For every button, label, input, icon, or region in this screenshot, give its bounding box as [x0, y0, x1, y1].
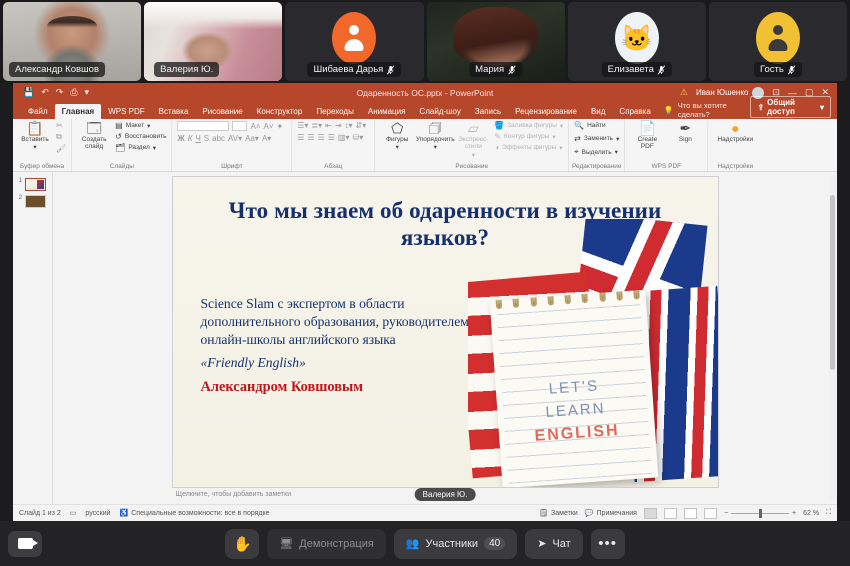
- shape-effects-icon: ◑: [494, 143, 499, 152]
- chat-button[interactable]: ➤ Чат: [525, 529, 582, 559]
- shape-fill-icon: 🪣: [494, 121, 504, 130]
- screen-share-icon: 🖥: [279, 537, 293, 550]
- decrease-indent-icon[interactable]: ⇤: [325, 121, 332, 130]
- raised-hand-icon: ✋: [233, 535, 252, 553]
- new-slide-button[interactable]: 🗔 Создать слайд: [77, 121, 111, 151]
- zoom-in-button[interactable]: +: [792, 510, 796, 517]
- layout-label: Макет: [126, 122, 144, 129]
- tab-wps-pdf[interactable]: WPS PDF: [101, 104, 151, 119]
- share-button[interactable]: ⇪ Общий доступ ▾: [750, 96, 831, 118]
- notes-indicator-icon[interactable]: ▭: [70, 509, 77, 517]
- zoom-thumb[interactable]: [759, 509, 762, 518]
- slide-photo-uk-flags: LET'S LEARN ENGLISH: [468, 219, 718, 487]
- shape-effects-button[interactable]: ◑ Эффекты фигуры▾: [494, 143, 563, 152]
- addins-icon: ●: [731, 121, 739, 135]
- zoom-level-label[interactable]: 62 %: [803, 510, 819, 517]
- accessibility-label: Специальные возможности: все в порядке: [131, 510, 269, 517]
- accessibility-icon: ♿: [120, 509, 129, 517]
- slide-thumbnail-item[interactable]: 2: [13, 193, 52, 210]
- group-label-addins: Надстройки: [708, 163, 762, 170]
- notes-button[interactable]: 🗒 Заметки: [539, 509, 578, 517]
- participants-button[interactable]: 👥 Участники 40: [394, 529, 517, 559]
- quick-styles-icon: ▱: [468, 121, 479, 135]
- microphone-muted-icon: [787, 65, 796, 75]
- replace-button[interactable]: ⇄ Заменить▾: [574, 134, 619, 143]
- arrange-label: Упорядочить: [416, 136, 455, 143]
- participant-tile-5[interactable]: 🐱 Елизавета: [568, 2, 706, 81]
- slide-body-text[interactable]: Science Slam с экспертом в области допол…: [201, 295, 471, 397]
- select-icon: ⌖: [574, 147, 579, 157]
- slide-number: 2: [16, 195, 22, 201]
- avatar: [332, 12, 376, 64]
- clipboard-icon: 📋: [26, 121, 43, 135]
- cat-icon: 🐱: [621, 25, 653, 51]
- more-options-button[interactable]: •••: [591, 529, 625, 559]
- notes-label: Заметки: [551, 510, 578, 517]
- font-color-icon[interactable]: A▾: [262, 134, 271, 143]
- reset-label: Восстановить: [125, 133, 167, 140]
- section-button[interactable]: 🗂 Раздел▾: [115, 143, 166, 152]
- sign-icon: ✒: [679, 121, 691, 135]
- people-icon: 👥: [406, 537, 420, 550]
- editor-body: 1 2: [13, 172, 837, 504]
- share-screen-button[interactable]: 🖥 Демонстрация: [267, 529, 385, 559]
- ribbon-group-wps-pdf: 📄 Create PDF ✒ Sign WPS PDF: [624, 119, 707, 171]
- font-size-input[interactable]: [232, 121, 247, 131]
- paper-plane-icon: ➤: [537, 537, 546, 550]
- increase-font-size-icon[interactable]: A˄: [250, 122, 260, 131]
- participant-name-badge: Шибаева Дарья: [308, 62, 402, 77]
- align-left-icon[interactable]: ☰: [297, 133, 304, 142]
- select-button[interactable]: ⌖ Выделить▾: [574, 147, 619, 157]
- create-pdf-icon: 📄: [639, 121, 656, 135]
- chevron-down-icon: ▾: [33, 144, 36, 151]
- create-pdf-label: Create PDF: [630, 136, 664, 151]
- create-pdf-button[interactable]: 📄 Create PDF: [630, 121, 664, 151]
- replace-icon: ⇄: [574, 134, 581, 143]
- align-center-icon[interactable]: ☰: [307, 133, 314, 142]
- document-title: Одаренность ОС.pptx - PowerPoint: [357, 88, 494, 98]
- tell-me-search[interactable]: 💡 Что вы хотите сделать?: [664, 101, 751, 119]
- view-sorter-button[interactable]: [664, 508, 677, 519]
- increase-indent-icon[interactable]: ⇥: [335, 121, 342, 130]
- shape-outline-label: Контур фигуры: [504, 133, 549, 140]
- shapes-label: Фигуры: [386, 136, 408, 143]
- notepad-image: LET'S LEARN ENGLISH: [489, 290, 658, 487]
- active-speaker-pill: Валерия Ю.: [415, 488, 476, 501]
- bold-icon[interactable]: Ж: [177, 134, 184, 143]
- quick-styles-label: Экспресс-стили: [456, 136, 490, 151]
- numbering-icon[interactable]: ≣▾: [311, 121, 322, 130]
- ribbon-group-slides: 🗔 Создать слайд ▤ Макет▾ ↺ Восстановить …: [71, 119, 171, 171]
- participant-tile-1[interactable]: Александр Ковшов: [3, 2, 141, 81]
- account-name: Иван Юшенко: [696, 88, 748, 97]
- slide-body-line-2: «Friendly English»: [201, 354, 471, 372]
- slide-counter[interactable]: Слайд 1 из 2: [19, 510, 61, 517]
- shapes-button[interactable]: ⬠ Фигуры▾: [380, 121, 414, 152]
- person-icon: [768, 25, 788, 51]
- shape-effects-label: Эффекты фигуры: [502, 144, 556, 151]
- change-case-icon[interactable]: Aa▾: [245, 134, 259, 143]
- tab-review[interactable]: Рецензирование: [508, 104, 584, 119]
- italic-icon[interactable]: К: [188, 134, 193, 143]
- tell-me-placeholder: Что вы хотите сделать?: [678, 101, 751, 119]
- strikethrough-icon[interactable]: abc: [212, 134, 225, 143]
- tab-help[interactable]: Справка: [612, 104, 657, 119]
- shadow-icon[interactable]: S: [204, 134, 209, 143]
- video-camera-icon: [18, 538, 33, 549]
- new-slide-label: Создать слайд: [77, 136, 111, 151]
- tab-file[interactable]: Файл: [21, 104, 55, 119]
- view-slideshow-button[interactable]: [704, 508, 717, 519]
- shape-outline-icon: ✎: [494, 132, 501, 141]
- format-painter-icon[interactable]: 🖌: [56, 144, 66, 153]
- tab-draw[interactable]: Рисование: [195, 104, 249, 119]
- sign-label: Sign: [679, 136, 692, 143]
- slide-thumbnail-2[interactable]: [25, 195, 46, 208]
- clear-formatting-icon[interactable]: ✦: [277, 122, 284, 131]
- justify-icon[interactable]: ☰: [328, 133, 335, 142]
- raise-hand-button[interactable]: ✋: [225, 529, 259, 559]
- microphone-muted-icon: [386, 65, 395, 75]
- participant-name: Валерия Ю.: [160, 64, 213, 75]
- character-spacing-icon[interactable]: AV▾: [228, 134, 242, 143]
- arrange-button[interactable]: 🗇 Упорядочить▾: [418, 121, 452, 152]
- group-label-drawing: Рисование: [375, 163, 568, 170]
- tab-view[interactable]: Вид: [584, 104, 612, 119]
- ribbon-group-addins: ● Надстройки Надстройки: [707, 119, 762, 171]
- share-icon: ⇪: [757, 103, 764, 112]
- zoom-out-button[interactable]: −: [724, 510, 728, 517]
- find-label: Найти: [587, 122, 606, 129]
- bullets-icon[interactable]: ☰▾: [297, 121, 308, 130]
- quick-access-toolbar[interactable]: 💾 ↶ ↷ ⎙ ▾: [13, 87, 89, 98]
- paste-label: Вставить: [21, 136, 49, 143]
- sign-button[interactable]: ✒ Sign: [668, 121, 702, 143]
- view-normal-button[interactable]: [644, 508, 657, 519]
- meeting-toolbar: ✋ 🖥 Демонстрация 👥 Участники 40 ➤ Чат ••…: [0, 521, 850, 566]
- slide-thumbnail-1[interactable]: [25, 178, 46, 191]
- line-spacing-icon[interactable]: ↕▾: [345, 121, 353, 130]
- video-toggle-button[interactable]: [8, 531, 42, 557]
- warning-triangle-icon[interactable]: ⚠: [680, 87, 688, 98]
- slideshow-icon[interactable]: ⎙: [70, 87, 77, 98]
- group-label-slides: Слайды: [72, 163, 171, 170]
- comments-label: Примечания: [597, 510, 637, 517]
- tab-animations[interactable]: Анимация: [361, 104, 413, 119]
- ribbon-group-drawing: ⬠ Фигуры▾ 🗇 Упорядочить▾ ▱ Экспресс-стил…: [374, 119, 568, 171]
- select-label: Выделить: [582, 149, 612, 156]
- group-label-font: Шрифт: [172, 163, 291, 170]
- scrollbar-thumb[interactable]: [830, 195, 835, 370]
- ribbon-group-font: A˄ A˅ ✦ Ж К Ч S abc AV▾ Aa▾ A▾ Шрифт: [171, 119, 291, 171]
- shape-outline-button[interactable]: ✎ Контур фигуры▾: [494, 132, 563, 141]
- paste-button[interactable]: 📋 Вставить ▾: [18, 121, 52, 152]
- slide-thumbnail-pane[interactable]: 1 2: [13, 172, 53, 504]
- chevron-down-icon: ▾: [820, 103, 824, 112]
- save-icon[interactable]: 💾: [23, 87, 34, 98]
- arrange-icon: 🗇: [429, 121, 442, 135]
- group-label-clipboard: Буфер обмена: [13, 163, 71, 170]
- participant-name: Гость: [760, 64, 784, 75]
- slide-body-line-3: Александром Ковшовым: [201, 378, 471, 397]
- participants-label: Участники: [426, 538, 479, 550]
- fit-slide-icon[interactable]: ⛶: [826, 509, 831, 517]
- shape-fill-label: Заливка фигуры: [507, 122, 557, 129]
- convert-smartart-icon[interactable]: ⛁▾: [352, 133, 363, 142]
- avatar: 🐱: [615, 12, 659, 64]
- tab-record[interactable]: Запись: [468, 104, 508, 119]
- shared-screen-powerpoint: 💾 ↶ ↷ ⎙ ▾ Одаренность ОС.pptx - PowerPoi…: [13, 83, 837, 521]
- shape-fill-button[interactable]: 🪣 Заливка фигуры▾: [494, 121, 563, 130]
- slide-canvas-area: LET'S LEARN ENGLISH Что мы знаем об одар…: [53, 172, 837, 504]
- copy-icon[interactable]: ⧉: [56, 132, 66, 142]
- replace-label: Заменить: [584, 135, 613, 142]
- tab-transitions[interactable]: Переходы: [309, 104, 361, 119]
- slide-canvas[interactable]: LET'S LEARN ENGLISH Что мы знаем об одар…: [173, 177, 718, 487]
- microphone-muted-icon: [657, 65, 666, 75]
- notepad-handwriting: LET'S LEARN ENGLISH: [495, 372, 655, 452]
- group-label-editing: Редактирование: [569, 163, 624, 170]
- participant-filmstrip: Александр Ковшов Валерия Ю. Шибаева Дарь…: [0, 0, 850, 83]
- participant-name-badge: Валерия Ю.: [154, 62, 219, 77]
- new-slide-icon: 🗔: [87, 121, 102, 135]
- tab-design[interactable]: Конструктор: [250, 104, 310, 119]
- camera-button[interactable]: [8, 531, 42, 557]
- chat-label: Чат: [552, 538, 570, 550]
- columns-icon[interactable]: ▥▾: [338, 133, 350, 142]
- participant-tile-4[interactable]: Мария: [427, 2, 565, 81]
- align-right-icon[interactable]: ☰: [318, 133, 325, 142]
- participant-name-badge: Мария: [469, 62, 522, 77]
- section-icon: 🗂: [115, 143, 125, 152]
- ribbon-tab-bar: Файл Главная WPS PDF Вставка Рисование К…: [13, 102, 837, 119]
- tab-slideshow[interactable]: Слайд-шоу: [412, 104, 467, 119]
- avatar: [756, 12, 800, 64]
- view-reading-button[interactable]: [684, 508, 697, 519]
- participant-name: Мария: [475, 64, 504, 75]
- participant-name-badge: Елизавета: [602, 62, 672, 77]
- ribbon-group-clipboard: 📋 Вставить ▾ ✂ ⧉ 🖌 Буфер обмена: [13, 119, 71, 171]
- quick-styles-button[interactable]: ▱ Экспресс-стили▾: [456, 121, 490, 159]
- section-label: Раздел: [128, 144, 149, 151]
- font-family-input[interactable]: [177, 121, 229, 131]
- participant-name: Шибаева Дарья: [314, 64, 384, 75]
- reset-icon: ↺: [115, 132, 122, 141]
- shapes-icon: ⬠: [391, 121, 403, 135]
- share-screen-label: Демонстрация: [299, 538, 374, 550]
- comments-button[interactable]: 💬 Примечания: [585, 509, 637, 517]
- participants-count: 40: [484, 537, 505, 550]
- ribbon-group-paragraph: ☰▾ ≣▾ ⇤ ⇥ ↕▾ ⇵▾ ☰ ☰ ☰ ☰ ▥▾ ⛁▾ Абзац: [291, 119, 374, 171]
- notes-icon: 🗒: [539, 509, 548, 517]
- microphone-muted-icon: [507, 65, 516, 75]
- accessibility-status[interactable]: ♿ Специальные возможности: все в порядке: [120, 509, 270, 517]
- participant-tile-2[interactable]: Валерия Ю.: [144, 2, 282, 81]
- participant-tile-3[interactable]: Шибаева Дарья: [285, 2, 423, 81]
- slide-title-text[interactable]: Что мы знаем об одаренности в изучении я…: [195, 197, 696, 251]
- redo-icon[interactable]: ↷: [56, 87, 64, 98]
- decrease-font-size-icon[interactable]: A˅: [264, 122, 274, 131]
- layout-button[interactable]: ▤ Макет▾: [115, 121, 166, 130]
- slide-thumbnail-item[interactable]: 1: [13, 176, 52, 193]
- vertical-scrollbar[interactable]: [829, 176, 836, 500]
- lightbulb-icon: 💡: [664, 106, 674, 115]
- group-label-paragraph: Абзац: [292, 163, 374, 170]
- tab-insert[interactable]: Вставка: [152, 104, 196, 119]
- text-direction-icon[interactable]: ⇵▾: [356, 121, 367, 130]
- zoom-slider[interactable]: − +: [724, 510, 796, 517]
- group-label-wps-pdf: WPS PDF: [625, 163, 707, 170]
- layout-icon: ▤: [115, 121, 123, 130]
- undo-icon[interactable]: ↶: [41, 87, 49, 98]
- slide-body-line-1: Science Slam с экспертом в области допол…: [201, 295, 471, 349]
- participant-name: Елизавета: [608, 64, 654, 75]
- reset-button[interactable]: ↺ Восстановить: [115, 132, 166, 141]
- ribbon: 📋 Вставить ▾ ✂ ⧉ 🖌 Буфер обмена 🗔 Создат…: [13, 119, 837, 172]
- addins-button[interactable]: ● Надстройки: [713, 121, 757, 143]
- ellipsis-icon: •••: [598, 535, 617, 552]
- language-indicator[interactable]: русский: [85, 510, 110, 517]
- share-label: Общий доступ: [767, 98, 817, 116]
- participant-tile-6[interactable]: Гость: [709, 2, 847, 81]
- zoom-track[interactable]: [731, 513, 789, 514]
- powerpoint-title-bar: 💾 ↶ ↷ ⎙ ▾ Одаренность ОС.pptx - PowerPoi…: [13, 83, 837, 102]
- addins-label: Надстройки: [717, 136, 753, 143]
- participant-name-badge: Александр Ковшов: [9, 62, 105, 77]
- find-button[interactable]: 🔍 Найти: [574, 121, 619, 130]
- participant-name: Александр Ковшов: [15, 64, 99, 75]
- comment-icon: 💬: [585, 509, 594, 517]
- customize-qat-icon[interactable]: ▾: [85, 87, 90, 98]
- search-icon: 🔍: [574, 121, 584, 130]
- cut-icon[interactable]: ✂: [56, 121, 66, 130]
- slide-number: 1: [16, 178, 22, 184]
- tab-home[interactable]: Главная: [55, 104, 102, 119]
- ribbon-group-editing: 🔍 Найти ⇄ Заменить▾ ⌖ Выделить▾ Редактир…: [568, 119, 624, 171]
- participant-name-badge: Гость: [754, 62, 802, 77]
- person-icon: [344, 25, 364, 51]
- status-bar: Слайд 1 из 2 ▭ русский ♿ Специальные воз…: [13, 504, 837, 521]
- underline-icon[interactable]: Ч: [195, 134, 200, 143]
